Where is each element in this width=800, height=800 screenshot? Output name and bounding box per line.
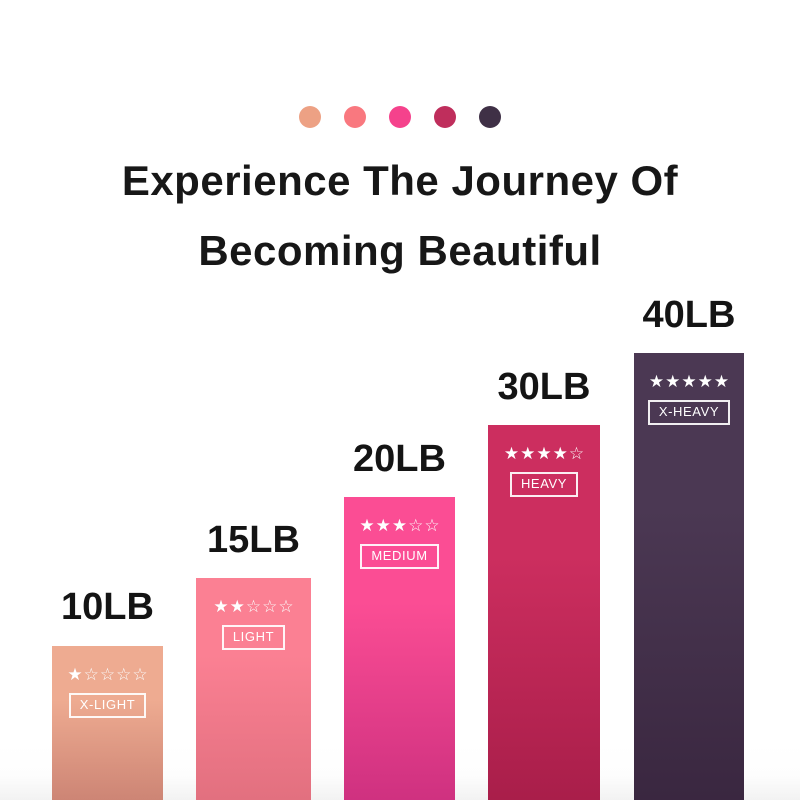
bar-weight-label: 30LB — [498, 365, 591, 409]
star-filled-icon: ★ — [504, 445, 519, 463]
star-filled-icon: ★ — [376, 517, 391, 535]
star-rating: ★★★★☆ — [504, 445, 584, 463]
star-empty-icon: ☆ — [408, 517, 423, 535]
bar-weight-label: 40LB — [643, 293, 736, 337]
star-filled-icon: ★ — [649, 373, 664, 391]
star-filled-icon: ★ — [67, 666, 82, 684]
star-rating: ★★☆☆☆ — [213, 598, 293, 616]
bar-group[interactable]: 15LB★★☆☆☆LIGHT — [196, 518, 311, 800]
resistance-level-badge: MEDIUM — [360, 544, 438, 569]
bar-weight-label: 15LB — [207, 518, 300, 562]
star-filled-icon: ★ — [213, 598, 228, 616]
star-rating: ★☆☆☆☆ — [67, 666, 147, 684]
bar-content: ★★★★★X-HEAVY — [634, 373, 744, 425]
star-filled-icon: ★ — [698, 373, 713, 391]
resistance-level-bar-chart: 10LB★☆☆☆☆X-LIGHT15LB★★☆☆☆LIGHT20LB★★★☆☆M… — [0, 0, 800, 800]
bar-group[interactable]: 10LB★☆☆☆☆X-LIGHT — [52, 585, 163, 800]
star-filled-icon: ★ — [392, 517, 407, 535]
star-empty-icon: ☆ — [132, 666, 147, 684]
bar-group[interactable]: 20LB★★★☆☆MEDIUM — [344, 437, 455, 800]
resistance-level-badge: LIGHT — [222, 625, 285, 650]
bar-weight-label: 10LB — [61, 585, 154, 629]
star-filled-icon: ★ — [359, 517, 374, 535]
star-empty-icon: ☆ — [100, 666, 115, 684]
star-empty-icon: ☆ — [246, 598, 261, 616]
bar-content: ★★☆☆☆LIGHT — [196, 598, 311, 650]
infographic-canvas: Experience The Journey Of Becoming Beaut… — [0, 0, 800, 800]
star-empty-icon: ☆ — [278, 598, 293, 616]
bar-weight-label: 20LB — [353, 437, 446, 481]
bar-group[interactable]: 40LB★★★★★X-HEAVY — [634, 293, 744, 800]
bar-column[interactable]: ★★★★☆HEAVY — [488, 425, 600, 800]
star-filled-icon: ★ — [714, 373, 729, 391]
bar-content: ★★★★☆HEAVY — [488, 445, 600, 497]
star-filled-icon: ★ — [553, 445, 568, 463]
star-empty-icon: ☆ — [262, 598, 277, 616]
star-filled-icon: ★ — [665, 373, 680, 391]
star-empty-icon: ☆ — [116, 666, 131, 684]
star-rating: ★★★★★ — [649, 373, 729, 391]
bar-content: ★★★☆☆MEDIUM — [344, 517, 455, 569]
bar-column[interactable]: ★★★☆☆MEDIUM — [344, 497, 455, 800]
bar-group[interactable]: 30LB★★★★☆HEAVY — [488, 365, 600, 800]
star-rating: ★★★☆☆ — [359, 517, 439, 535]
star-filled-icon: ★ — [681, 373, 696, 391]
star-empty-icon: ☆ — [569, 445, 584, 463]
bar-column[interactable]: ★★☆☆☆LIGHT — [196, 578, 311, 800]
bar-column[interactable]: ★☆☆☆☆X-LIGHT — [52, 646, 163, 800]
resistance-level-badge: HEAVY — [510, 472, 578, 497]
star-filled-icon: ★ — [520, 445, 535, 463]
bar-content: ★☆☆☆☆X-LIGHT — [52, 666, 163, 718]
resistance-level-badge: X-LIGHT — [69, 693, 146, 718]
star-filled-icon: ★ — [230, 598, 245, 616]
star-empty-icon: ☆ — [84, 666, 99, 684]
star-empty-icon: ☆ — [424, 517, 439, 535]
resistance-level-badge: X-HEAVY — [648, 400, 730, 425]
star-filled-icon: ★ — [536, 445, 551, 463]
bar-column[interactable]: ★★★★★X-HEAVY — [634, 353, 744, 800]
